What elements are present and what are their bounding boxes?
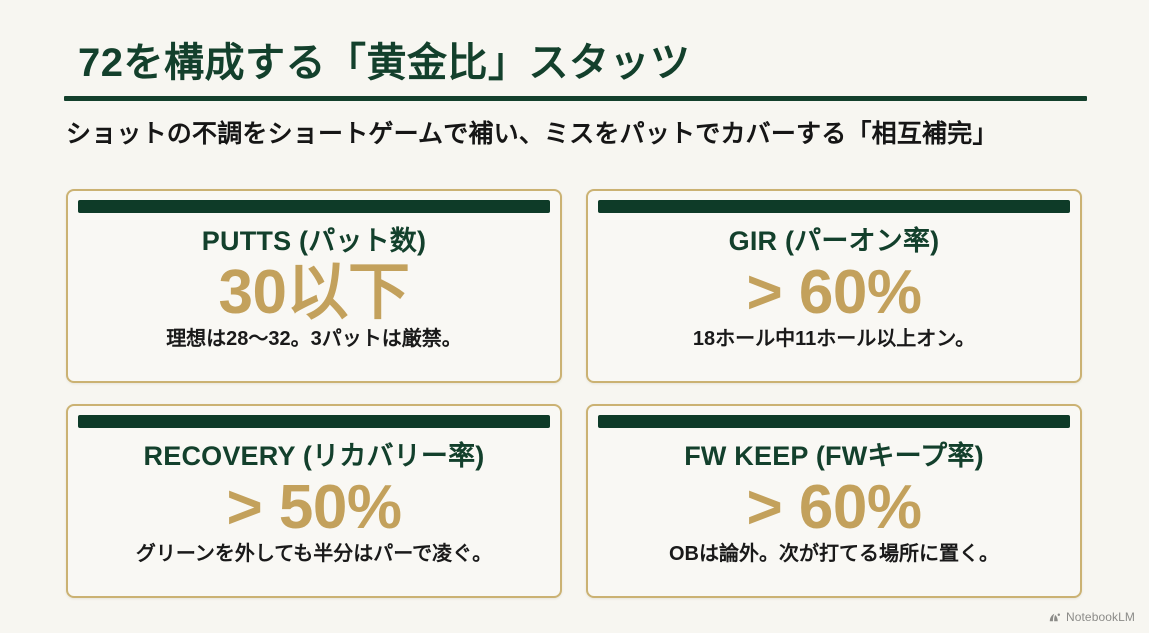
card-label: RECOVERY (リカバリー率) <box>144 442 485 472</box>
stat-card-recovery: RECOVERY (リカバリー率) > 50% グリーンを外しても半分はパーで凌… <box>66 404 562 598</box>
card-note: OBは論外。次が打てる場所に置く。 <box>669 542 999 566</box>
stat-card-putts: PUTTS (パット数) 30以下 理想は28〜32。3パットは厳禁。 <box>66 189 562 383</box>
card-value: > 50% <box>226 474 401 542</box>
page-subtitle: ショットの不調をショートゲームで補い、ミスをパットでカバーする「相互補完」 <box>66 119 1087 149</box>
card-accent-bar <box>78 200 550 213</box>
title-underline-rule <box>64 96 1087 101</box>
card-value: > 60% <box>746 474 921 542</box>
card-accent-bar <box>598 200 1070 213</box>
card-body: PUTTS (パット数) 30以下 理想は28〜32。3パットは厳禁。 <box>78 213 550 381</box>
card-accent-bar <box>78 415 550 428</box>
card-note: グリーンを外しても半分はパーで凌ぐ。 <box>136 542 492 566</box>
stat-card-grid: PUTTS (パット数) 30以下 理想は28〜32。3パットは厳禁。 GIR … <box>66 189 1082 598</box>
card-label: FW KEEP (FWキープ率) <box>684 442 984 472</box>
card-body: GIR (パーオン率) > 60% 18ホール中11ホール以上オン。 <box>598 213 1070 381</box>
card-label: GIR (パーオン率) <box>729 227 940 257</box>
card-value: > 60% <box>746 259 921 327</box>
card-accent-bar <box>598 415 1070 428</box>
card-body: FW KEEP (FWキープ率) > 60% OBは論外。次が打てる場所に置く。 <box>598 428 1070 596</box>
page-title: 72を構成する「黄金比」スタッツ <box>78 40 1087 86</box>
stat-card-fw-keep: FW KEEP (FWキープ率) > 60% OBは論外。次が打てる場所に置く。 <box>586 404 1082 598</box>
notebooklm-logo-icon <box>1048 611 1061 624</box>
card-value: 30以下 <box>219 259 410 327</box>
card-note: 18ホール中11ホール以上オン。 <box>693 327 975 351</box>
slide-header: 72を構成する「黄金比」スタッツ ショットの不調をショートゲームで補い、ミスをパ… <box>64 40 1087 149</box>
card-body: RECOVERY (リカバリー率) > 50% グリーンを外しても半分はパーで凌… <box>78 428 550 596</box>
watermark-label: NotebookLM <box>1066 610 1135 624</box>
notebooklm-watermark: NotebookLM <box>1048 610 1135 624</box>
slide-root: 72を構成する「黄金比」スタッツ ショットの不調をショートゲームで補い、ミスをパ… <box>0 0 1149 633</box>
card-note: 理想は28〜32。3パットは厳禁。 <box>166 327 462 351</box>
card-label: PUTTS (パット数) <box>202 227 426 257</box>
stat-card-gir: GIR (パーオン率) > 60% 18ホール中11ホール以上オン。 <box>586 189 1082 383</box>
